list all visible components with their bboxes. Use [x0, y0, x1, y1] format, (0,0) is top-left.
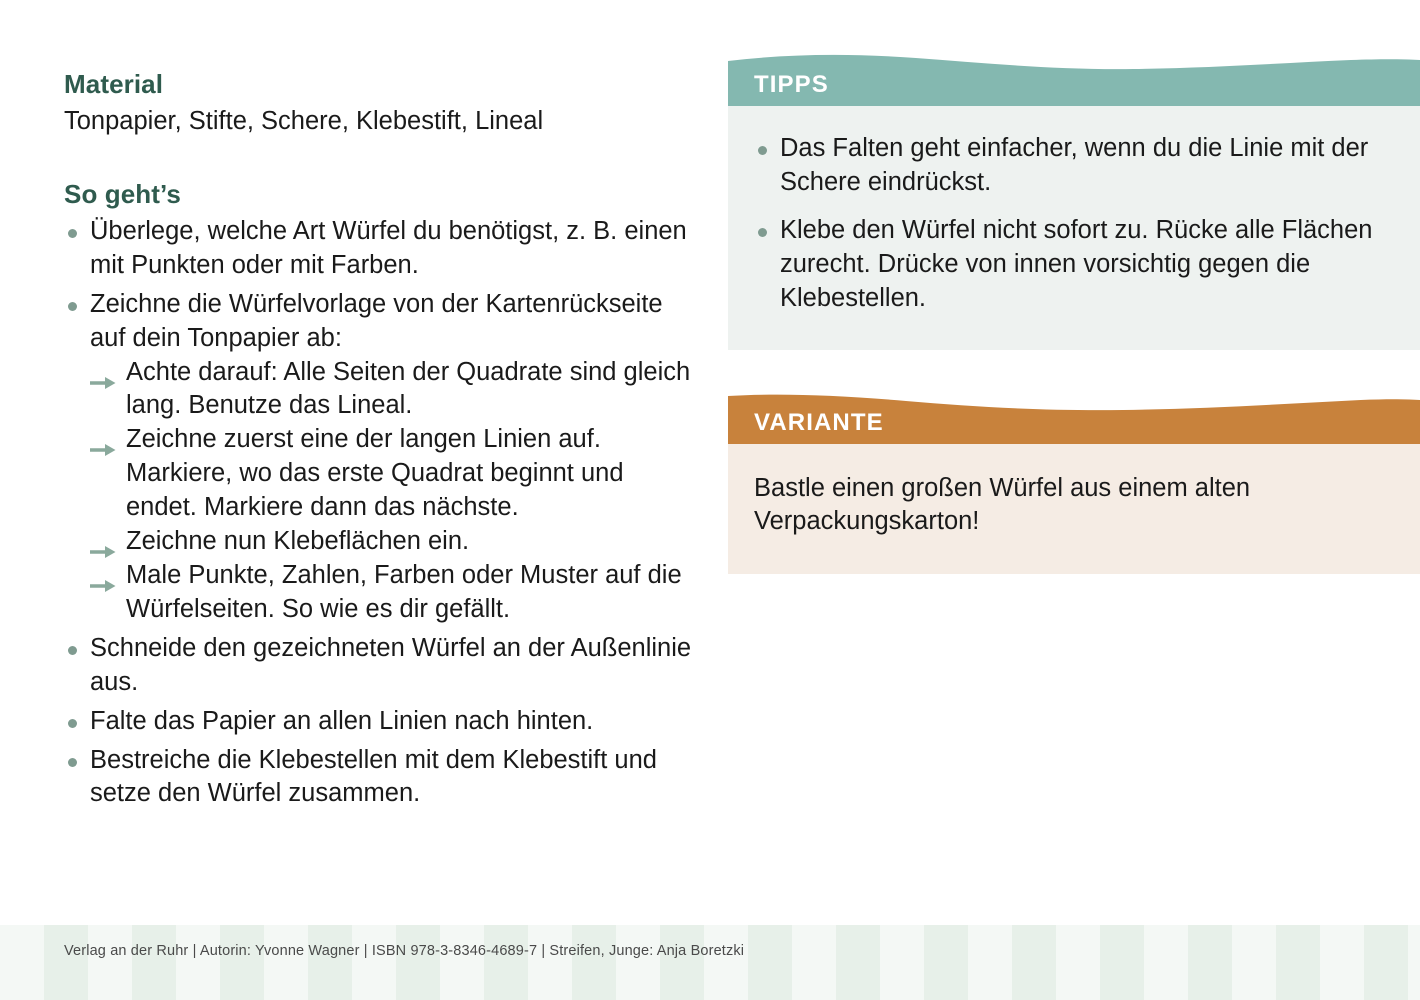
- right-column: TIPPS Das Falten geht einfacher, wenn du…: [728, 0, 1420, 1000]
- arrow-right-icon: [90, 569, 116, 583]
- step-item: Bestreiche die Klebestellen mit dem Kleb…: [64, 744, 694, 812]
- step-text: Bestreiche die Klebestellen mit dem Kleb…: [90, 746, 657, 808]
- steps-list: Überlege, welche Art Würfel du benötigst…: [64, 215, 694, 811]
- tips-list: Das Falten geht einfacher, wenn du die L…: [754, 132, 1386, 316]
- tips-body: Das Falten geht einfacher, wenn du die L…: [728, 106, 1420, 350]
- tip-text: Klebe den Würfel nicht sofort zu. Rücke …: [780, 216, 1372, 312]
- tips-panel: TIPPS Das Falten geht einfacher, wenn du…: [728, 52, 1420, 350]
- substep-item: Achte darauf: Alle Seiten der Quadrate s…: [90, 356, 694, 424]
- step-item: Zeichne die Würfelvorlage von der Karten…: [64, 288, 694, 627]
- instruction-card-page: Material Tonpapier, Stifte, Schere, Kleb…: [0, 0, 1420, 1000]
- substeps-list: Achte darauf: Alle Seiten der Quadrate s…: [90, 356, 694, 627]
- variante-banner: VARIANTE: [728, 390, 1420, 444]
- tip-item: Das Falten geht einfacher, wenn du die L…: [754, 132, 1386, 200]
- substep-item: Zeichne nun Klebeflächen ein.: [90, 525, 694, 559]
- material-text: Tonpapier, Stifte, Schere, Klebestift, L…: [64, 105, 694, 137]
- substep-item: Zeichne zuerst eine der langen Linien au…: [90, 423, 694, 525]
- step-text: Schneide den gezeichneten Würfel an der …: [90, 634, 691, 696]
- substep-text: Male Punkte, Zahlen, Farben oder Muster …: [126, 561, 682, 623]
- steps-heading: So geht’s: [64, 180, 694, 210]
- tips-banner-label: TIPPS: [754, 71, 829, 99]
- step-item: Schneide den gezeichneten Würfel an der …: [64, 632, 694, 700]
- step-item: Überlege, welche Art Würfel du benötigst…: [64, 215, 694, 283]
- variante-text: Bastle einen großen Würfel aus einem alt…: [754, 472, 1386, 538]
- footer-credit: Verlag an der Ruhr | Autorin: Yvonne Wag…: [64, 943, 744, 959]
- step-text: Falte das Papier an allen Linien nach hi…: [90, 707, 593, 735]
- substep-item: Male Punkte, Zahlen, Farben oder Muster …: [90, 559, 694, 627]
- footer-band: Verlag an der Ruhr | Autorin: Yvonne Wag…: [0, 925, 1420, 1000]
- left-column: Material Tonpapier, Stifte, Schere, Kleb…: [64, 70, 694, 816]
- substep-text: Achte darauf: Alle Seiten der Quadrate s…: [126, 358, 690, 420]
- variante-panel: VARIANTE Bastle einen großen Würfel aus …: [728, 390, 1420, 574]
- substep-text: Zeichne nun Klebeflächen ein.: [126, 527, 469, 555]
- step-text: Zeichne die Würfelvorlage von der Karten…: [90, 290, 663, 352]
- arrow-right-icon: [90, 366, 116, 380]
- tip-text: Das Falten geht einfacher, wenn du die L…: [780, 134, 1368, 196]
- material-heading: Material: [64, 70, 694, 100]
- step-text: Überlege, welche Art Würfel du benötigst…: [90, 217, 687, 279]
- tips-banner: TIPPS: [728, 52, 1420, 106]
- tip-item: Klebe den Würfel nicht sofort zu. Rücke …: [754, 214, 1386, 316]
- substep-text: Zeichne zuerst eine der langen Linien au…: [126, 425, 624, 521]
- step-item: Falte das Papier an allen Linien nach hi…: [64, 705, 694, 739]
- arrow-right-icon: [90, 433, 116, 447]
- footer-stripe-pattern: [0, 925, 1420, 1000]
- arrow-right-icon: [90, 535, 116, 549]
- variante-banner-label: VARIANTE: [754, 409, 884, 437]
- variante-body: Bastle einen großen Würfel aus einem alt…: [728, 444, 1420, 574]
